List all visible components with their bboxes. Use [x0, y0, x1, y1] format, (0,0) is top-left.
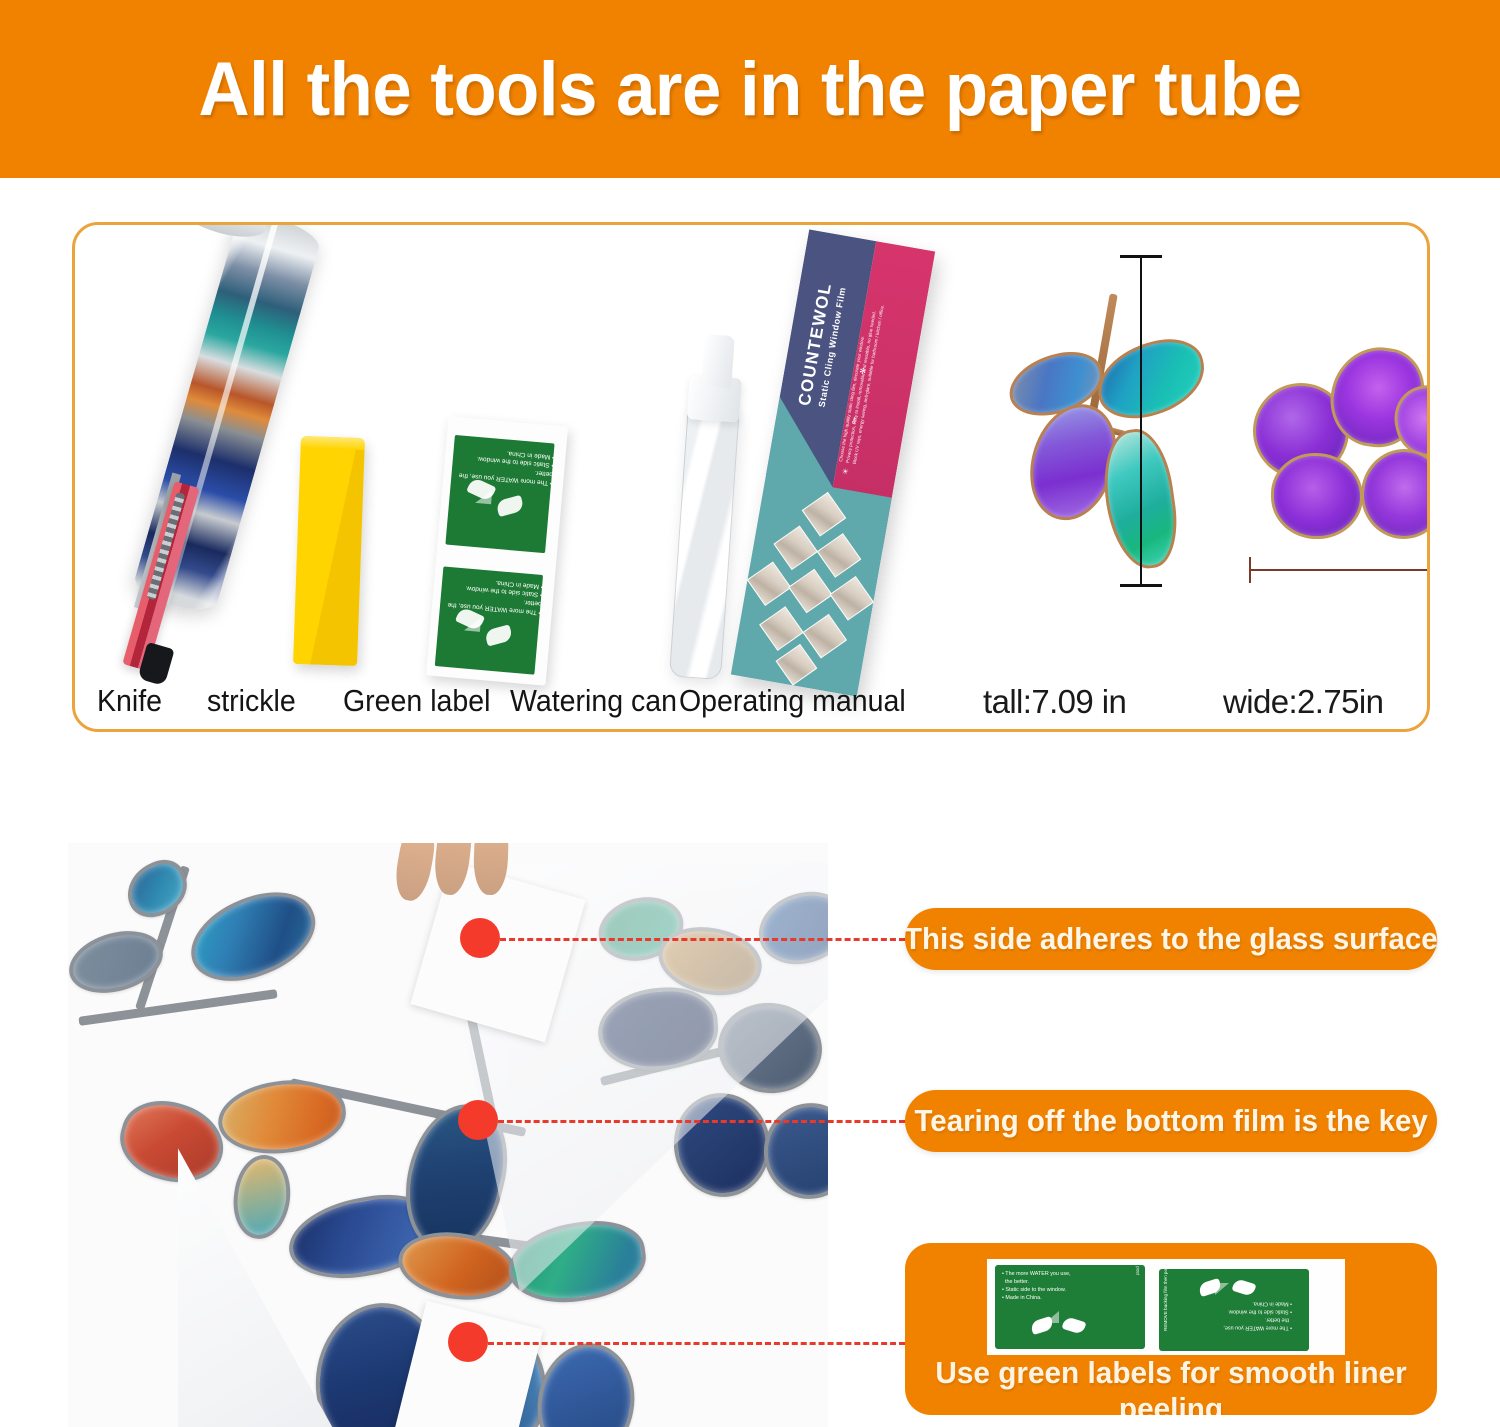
green-label-hand-b [1062, 1316, 1087, 1335]
green-label-hand-right-2 [484, 624, 513, 646]
film-leaf [111, 1090, 232, 1194]
manual-photo-cell [817, 533, 862, 578]
tool-label-strickle: strickle [207, 683, 296, 719]
tool-label-operating-manual: Operating manual [679, 683, 906, 719]
tools-stage: • The more WATER you use, the better.• S… [75, 225, 1427, 729]
green-label-icon: • The more WATER you use, the better.• S… [426, 416, 568, 685]
green-label-side-text-inverted: REMOVE backing film then post [1163, 1269, 1168, 1331]
film-leaf [68, 921, 170, 1003]
green-label-bullets-upright: • The more WATER you use, the better.• S… [1002, 1270, 1126, 1302]
green-label-bullets-top: • The more WATER you use, the better.• S… [456, 443, 554, 486]
film-leaf [228, 1152, 295, 1243]
green-label-hand-d [1232, 1278, 1257, 1297]
dash-connector-2 [498, 1120, 905, 1123]
film-leaf [528, 1336, 643, 1427]
manual-photo-cell [773, 526, 818, 571]
header-banner: All the tools are in the paper tube [0, 0, 1500, 178]
dimension-label-tall: tall:7.09 in [983, 683, 1126, 721]
spray-bottle-nozzle [701, 334, 735, 388]
manual-photo-cell [803, 614, 848, 659]
green-label-inverted: • The more WATER you use, the better.• S… [1159, 1269, 1309, 1351]
callout-text-2: Tearing off the bottom film is the key [914, 1103, 1427, 1139]
vertical-measure-icon [1140, 255, 1142, 587]
tools-card: • The more WATER you use, the better.• S… [72, 222, 1430, 732]
dash-connector-3 [488, 1342, 905, 1345]
snowflake-icon: ✻ [859, 366, 867, 376]
horizontal-measure-cap-left [1249, 557, 1251, 583]
red-dot-marker-3 [448, 1322, 488, 1362]
film-leaf [215, 1075, 350, 1160]
green-label-side-text-upright: REMOVE backing film then post [1136, 1265, 1141, 1275]
callout-text-1: This side adheres to the glass surface [904, 921, 1438, 957]
dash-connector-1 [500, 938, 905, 941]
manual-photo-cell [788, 569, 833, 614]
tool-label-watering-can: Watering can [510, 683, 677, 719]
manual-photo-cell [802, 492, 847, 537]
green-label-hand-right [495, 495, 524, 517]
manual-booklet: COUNTEWOL Static Cling Window Film Choos… [731, 229, 936, 696]
green-label-block-top: • The more WATER you use, the better.• S… [445, 435, 554, 553]
spray-bottle-body [669, 405, 740, 680]
stained-glass-flower-motif [1235, 325, 1430, 655]
callout-text-3: Use green labels for smooth liner peelin… [916, 1355, 1427, 1415]
film-leaf [178, 876, 328, 997]
green-label-bullets-inverted: • The more WATER you use, the better.• S… [1166, 1299, 1292, 1331]
green-label-upright: • The more WATER you use, the better.• S… [995, 1265, 1145, 1349]
page-title: All the tools are in the paper tube [199, 46, 1302, 133]
callout-pill-glass-surface: This side adheres to the glass surface [905, 908, 1437, 970]
green-label-hand-a [1030, 1316, 1055, 1335]
horizontal-measure-icon [1249, 569, 1430, 571]
film-leaf [118, 853, 196, 926]
sun-icon: ☀ [841, 467, 850, 477]
manual-photo-cell [759, 606, 804, 651]
callout-pill-bottom-film: Tearing off the bottom film is the key [905, 1090, 1437, 1152]
red-dot-marker-1 [460, 918, 500, 958]
vertical-measure-cap-top [1120, 255, 1162, 258]
green-label-bullets-bottom: • The more WATER you use, the better.• S… [445, 573, 543, 616]
green-label-block-bottom: • The more WATER you use, the better.• S… [435, 566, 543, 674]
dimension-label-wide: wide:2.75in [1223, 683, 1383, 721]
film-stem [78, 989, 277, 1026]
flower-petal-bottom-right [1357, 445, 1430, 543]
red-dot-marker-2 [458, 1100, 498, 1140]
film-leaf [755, 1094, 828, 1207]
manual-booklet-icon: COUNTEWOL Static Cling Window Film Choos… [747, 229, 947, 707]
tool-label-green-label: Green label [343, 683, 490, 719]
green-label-photo: • The more WATER you use, the better.• S… [987, 1259, 1345, 1355]
squeegee-icon [293, 436, 365, 666]
flower-petal-bottom-left [1271, 453, 1363, 539]
stained-glass-leaf-motif [980, 243, 1210, 643]
product-infographic: All the tools are in the paper tube • Th… [0, 0, 1500, 1427]
vertical-measure-cap-bottom [1120, 584, 1162, 587]
tool-label-knife: Knife [97, 683, 162, 719]
callout-card-green-labels: • The more WATER you use, the better.• S… [905, 1243, 1437, 1415]
